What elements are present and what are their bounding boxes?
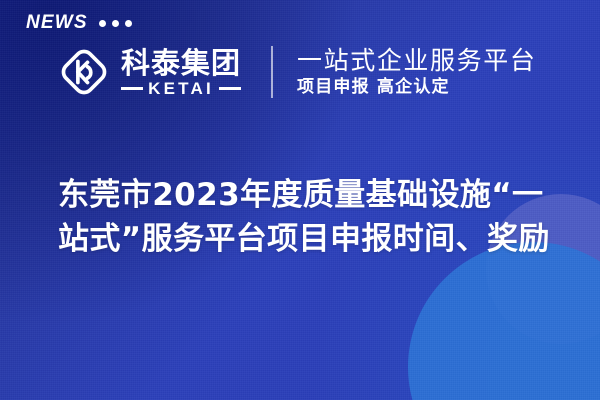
kicker-dots-icon [99, 18, 132, 27]
kicker-dot-icon [125, 20, 132, 27]
brand-rule-right [219, 87, 241, 90]
brand-divider [271, 46, 273, 98]
news-kicker: NEWS [26, 13, 132, 32]
brand-name-en-row: KETAI [121, 80, 241, 97]
poster-content: NEWS 科泰集团 [0, 0, 600, 400]
news-poster: NEWS 科泰集团 [0, 0, 600, 400]
brand-identity: 科泰集团 KETAI [56, 44, 241, 100]
brand-name-cn: 科泰集团 [121, 49, 241, 79]
brand-name-en: KETAI [148, 80, 214, 97]
kicker-dot-icon [112, 20, 119, 27]
kicker-dot-icon [99, 20, 106, 27]
brand-rule-left [121, 87, 143, 90]
brand-bar: 科泰集团 KETAI 一站式企业服务平台 项目申报 高企认定 [56, 44, 536, 100]
page-title: 东莞市2023年度质量基础设施“一站式”服务平台项目申报时间、奖励 [58, 173, 558, 261]
brand-tagline: 一站式企业服务平台 项目申报 高企认定 [297, 47, 536, 96]
tagline-sub: 项目申报 高企认定 [297, 78, 536, 97]
brand-wordmark: 科泰集团 KETAI [121, 47, 241, 97]
news-kicker-label: NEWS [26, 13, 88, 32]
ketai-diamond-k-logo-icon [56, 44, 112, 100]
tagline-main: 一站式企业服务平台 [297, 47, 536, 75]
